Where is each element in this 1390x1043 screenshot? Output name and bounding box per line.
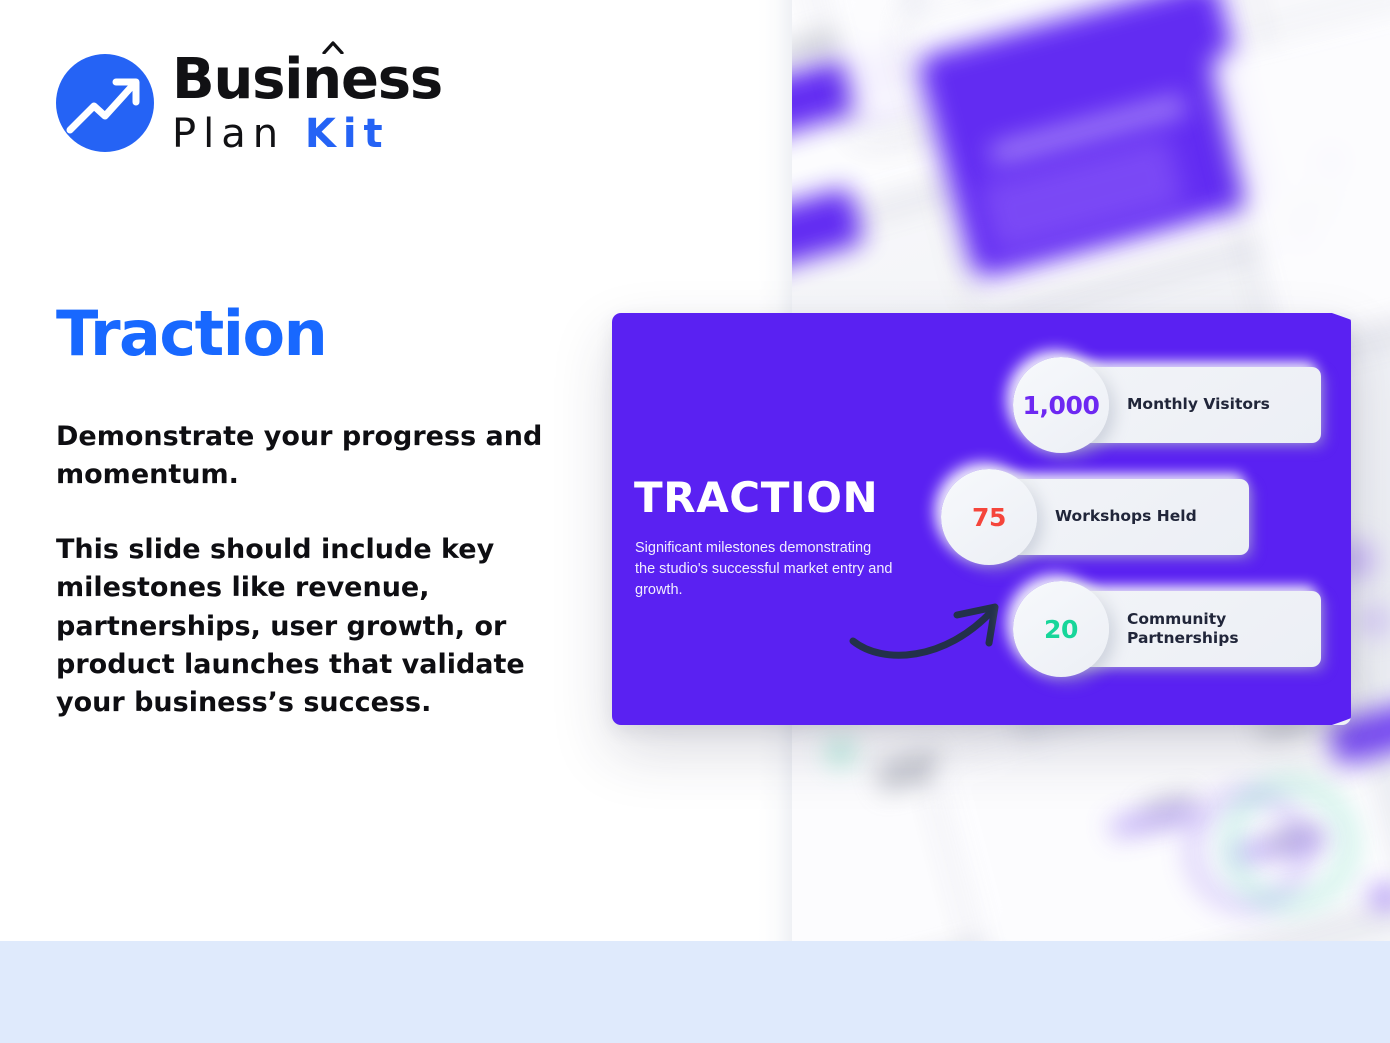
slide-subtitle: Significant milestones demonstrating the… (635, 538, 893, 601)
circumflex-accent-icon (322, 41, 344, 54)
curved-up-right-arrow-icon (847, 593, 1017, 663)
metric-value-badge: 75 (941, 469, 1037, 565)
growth-arrow-circle-icon (56, 54, 154, 152)
metric-label: Community Partnerships (1127, 610, 1302, 649)
metric-value-badge: 20 (1013, 581, 1109, 677)
blurred-ring-chart (1226, 780, 1354, 908)
blurred-dot (828, 740, 853, 765)
metric-row[interactable]: Workshops Held 75 (941, 461, 1345, 573)
metric-label: Monthly Visitors (1127, 395, 1302, 414)
bottom-accent-bar (0, 941, 1390, 1043)
metric-label: Workshops Held (1055, 507, 1230, 526)
metric-row[interactable]: Monthly Visitors 1,000 (1013, 349, 1345, 461)
brand-wordmark: Business Plan Kit (172, 52, 442, 154)
brand-plan-text: Plan (172, 111, 285, 157)
brand-name-text: Business (172, 47, 442, 112)
brand-name-line1: Business (172, 52, 442, 108)
blurred-dot (1358, 606, 1390, 636)
brand-name-line2: Plan Kit (172, 114, 442, 154)
slide-preview-card[interactable]: TRACTION Significant milestones demonstr… (612, 313, 1351, 725)
metric-row[interactable]: Community Partnerships 20 (1013, 573, 1345, 685)
metric-value-badge: 1,000 (1013, 357, 1109, 453)
page-title: Traction (56, 297, 326, 370)
metrics-list: Monthly Visitors 1,000 Workshops Held 75… (1013, 349, 1345, 685)
lead-paragraph: Demonstrate your progress and momentum. (56, 418, 556, 495)
slide-canvas: Business Plan Kit Traction Demonstrate y… (0, 0, 1390, 1043)
brand-kit-text: Kit (305, 111, 390, 157)
brand-logo[interactable]: Business Plan Kit (56, 52, 442, 154)
body-paragraph: This slide should include key milestones… (56, 531, 596, 723)
slide-title: TRACTION (634, 473, 878, 522)
